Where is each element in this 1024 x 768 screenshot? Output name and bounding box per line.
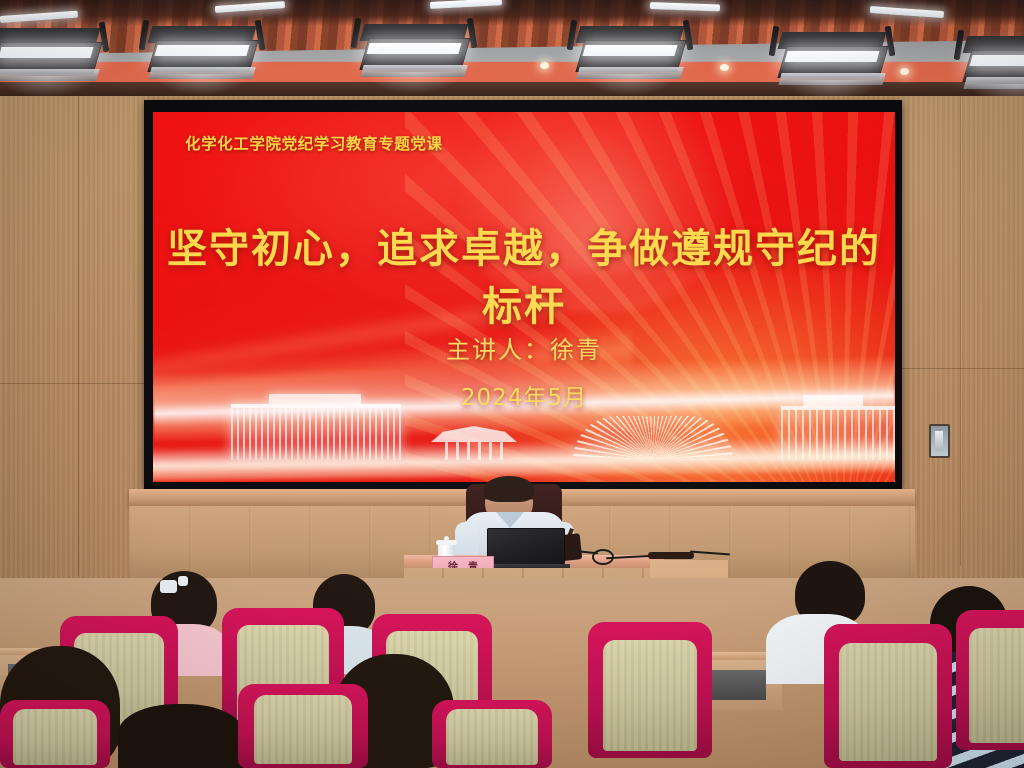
wall-seam — [0, 383, 146, 384]
led-screen: 化学化工学院党纪学习教育专题党课 坚守初心，追求卓越，争做遵规守纪的标杆 主讲人… — [153, 112, 895, 482]
spotlight-lamp — [154, 45, 249, 56]
slide-header-text: 化学化工学院党纪学习教育专题党课 — [185, 132, 443, 154]
pavilion-roof — [431, 426, 517, 442]
audience-hair-clip — [160, 580, 177, 593]
spotlight-glow — [0, 76, 94, 98]
slide-title-text: 坚守初心，追求卓越，争做遵规守纪的标杆 — [153, 216, 895, 332]
stage-spotlight — [150, 26, 254, 88]
desk-remote[interactable] — [648, 552, 694, 559]
audience-hair-clip — [178, 576, 188, 586]
audience-head — [118, 704, 244, 768]
laptop-screen[interactable] — [487, 528, 565, 568]
water-cup-knob — [444, 536, 449, 541]
audience-chair[interactable] — [238, 684, 368, 768]
spotlight-glow — [582, 74, 678, 96]
stage-spotlight — [780, 32, 884, 94]
stage-spotlight — [578, 26, 682, 88]
chair-back-pad — [603, 640, 697, 752]
spotlight-glow — [154, 74, 250, 96]
ceiling-downlight — [540, 62, 549, 69]
lecture-hall-photo: 化学化工学院党纪学习教育专题党课 坚守初心，追求卓越，争做遵规守纪的标杆 主讲人… — [0, 0, 1024, 768]
audience-chair[interactable] — [0, 700, 110, 768]
speaker-hair — [484, 476, 534, 502]
slide-date-text: 2024年5月 — [153, 378, 895, 412]
ceiling-downlight — [900, 68, 909, 75]
wall-seam — [900, 368, 1024, 369]
chair-back-pad — [839, 643, 936, 761]
stage-spotlight — [362, 24, 466, 86]
wall-switch-keys[interactable] — [935, 431, 943, 451]
audience-chair[interactable] — [824, 624, 952, 768]
stage-spotlight — [0, 28, 98, 90]
slide-speaker-text: 主讲人：徐青 — [153, 330, 895, 365]
spotlight-glow — [366, 72, 462, 94]
spotlight-lamp — [0, 47, 94, 58]
chair-back-pad — [13, 709, 97, 765]
chair-back-pad — [254, 695, 353, 764]
wall-seam — [78, 96, 79, 576]
spotlight-lamp — [784, 51, 879, 62]
spotlight-lamp — [969, 55, 1024, 66]
spotlight-lamp — [582, 45, 677, 56]
wall-seam — [960, 96, 961, 566]
audience-chair[interactable] — [588, 622, 712, 758]
spotlight-lamp — [366, 43, 461, 54]
chair-back-pad — [969, 628, 1024, 743]
audience-chair[interactable] — [432, 700, 552, 768]
stage-spotlight — [965, 36, 1024, 98]
wall-control-panel[interactable] — [929, 424, 950, 458]
ceiling-downlight — [720, 64, 729, 71]
chair-back-pad — [446, 709, 537, 765]
led-screen-bezel: 化学化工学院党纪学习教育专题党课 坚守初心，追求卓越，争做遵规守纪的标杆 主讲人… — [144, 100, 902, 490]
audience-chair[interactable] — [956, 610, 1024, 750]
